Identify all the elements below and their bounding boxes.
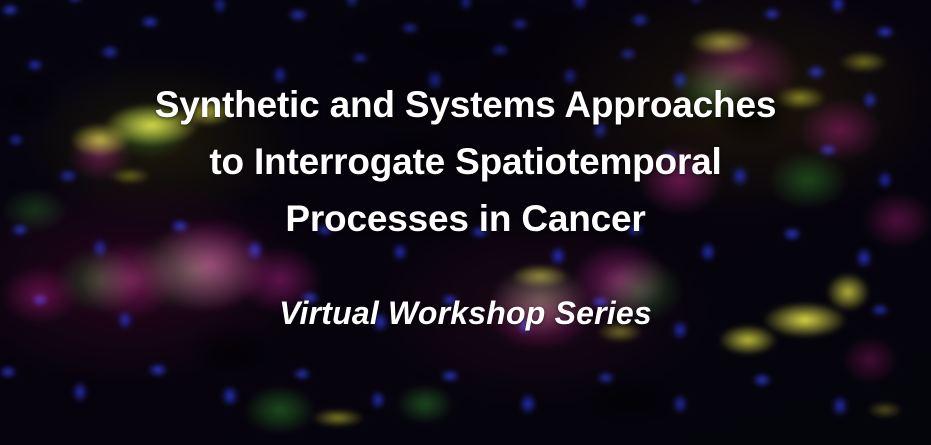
banner-subtitle: Virtual Workshop Series (0, 247, 931, 333)
title-line-1: Synthetic and Systems Approaches (0, 76, 931, 133)
title-line-3: Processes in Cancer (0, 190, 931, 247)
title-line-2: to Interrogate Spatiotemporal (0, 133, 931, 190)
banner-text-block: Synthetic and Systems Approaches to Inte… (0, 0, 931, 333)
page-title: Synthetic and Systems Approaches to Inte… (0, 0, 931, 247)
workshop-banner: Synthetic and Systems Approaches to Inte… (0, 0, 931, 445)
